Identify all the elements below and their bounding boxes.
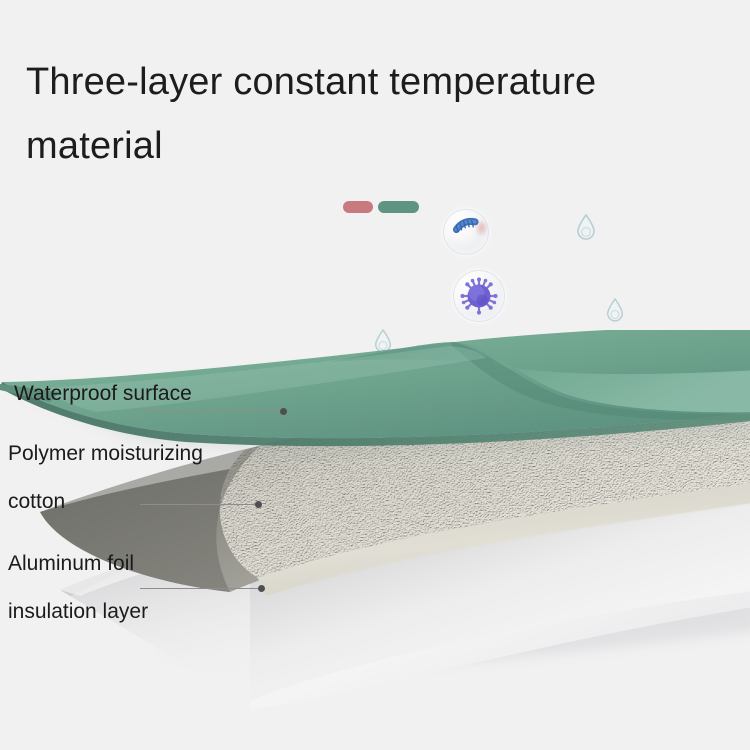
leader-dot-polymer: [255, 501, 262, 508]
label-aluminum-foil-line-1: Aluminum foil: [8, 548, 148, 579]
leader-dot-waterproof: [280, 408, 287, 415]
page-title: Three-layer constant temperature materia…: [26, 50, 726, 178]
page-title-line-1: Three-layer constant temperature: [26, 50, 726, 114]
label-aluminum-foil-line-2: insulation layer: [8, 596, 148, 627]
leader-line-foil: [140, 588, 260, 589]
bacteria-icon: [444, 210, 488, 254]
label-polymer-cotton-line-1: Polymer moisturizing: [8, 438, 203, 469]
virus-in-bubble-icon: [453, 270, 505, 322]
water-droplet-icon-1: [575, 213, 597, 241]
label-waterproof-surface: Waterproof surface: [14, 378, 192, 409]
label-aluminum-foil: Aluminum foil insulation layer: [8, 548, 148, 627]
bacteria-in-bubble-icon: [443, 209, 489, 255]
product-infographic: Three-layer constant temperature materia…: [0, 0, 750, 750]
leader-line-polymer: [140, 504, 257, 505]
virus-icon: [454, 271, 504, 321]
red-capsule-pill-icon: [343, 201, 373, 213]
page-title-line-2: material: [26, 114, 726, 178]
label-polymer-cotton: Polymer moisturizing cotton: [8, 438, 203, 517]
water-droplet-icon-2: [605, 297, 625, 323]
leader-dot-foil: [258, 585, 265, 592]
green-bar-pill-icon: [378, 201, 419, 213]
label-polymer-cotton-line-2: cotton: [8, 486, 203, 517]
label-waterproof-surface-line-1: Waterproof surface: [14, 378, 192, 409]
leader-line-waterproof: [140, 411, 282, 412]
